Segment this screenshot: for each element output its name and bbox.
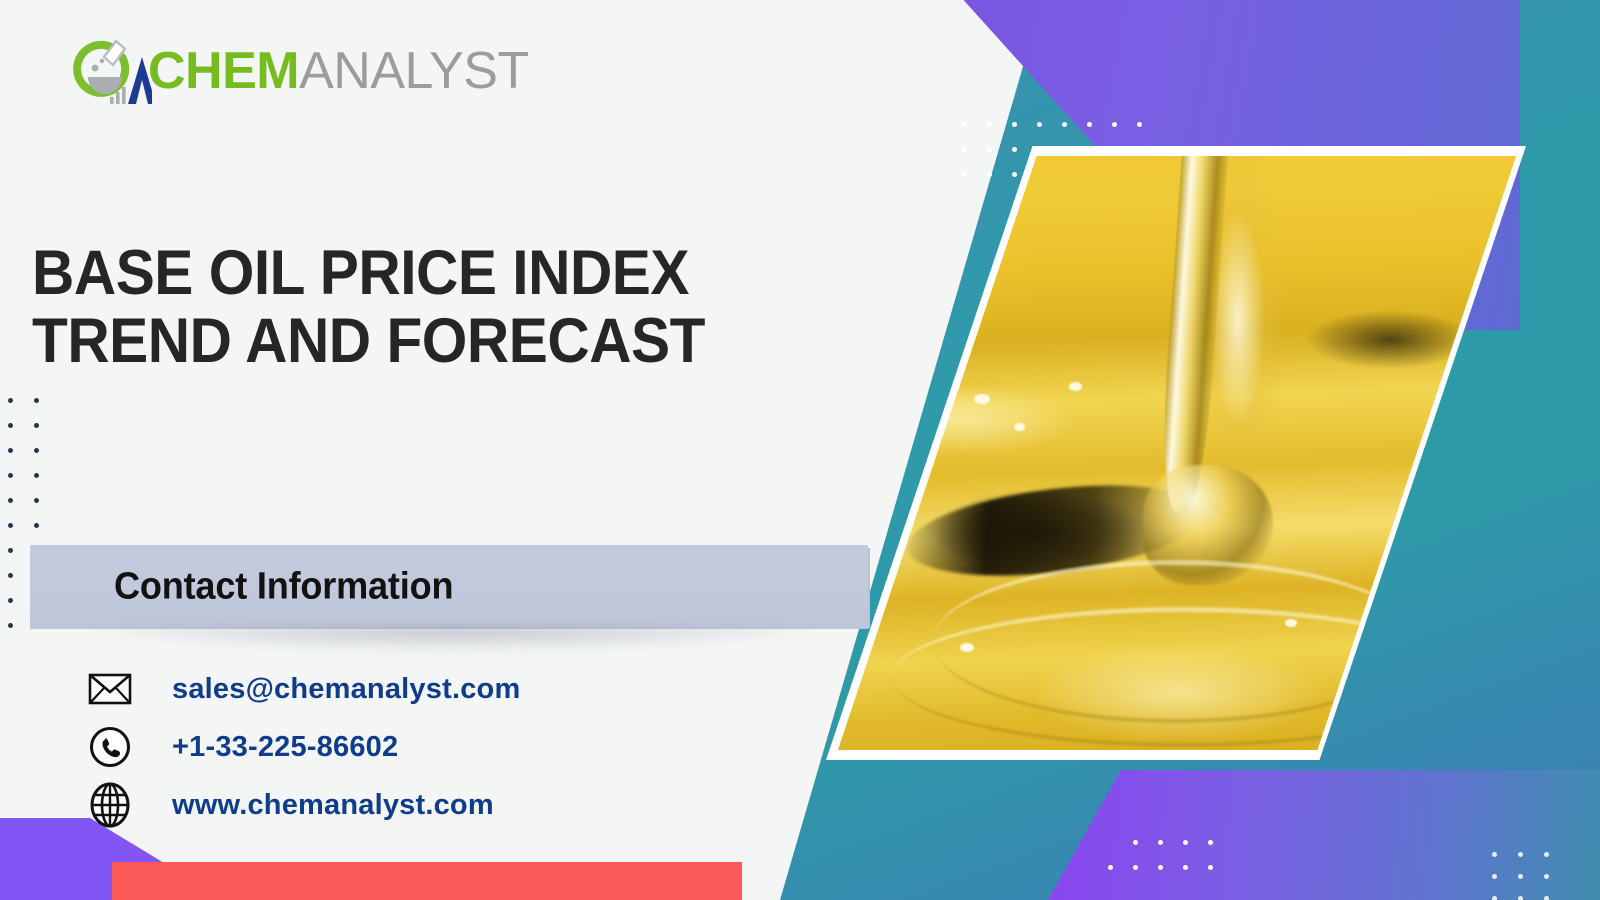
contact-row-phone[interactable]: +1-33-225-86602: [86, 718, 706, 776]
contact-list: sales@chemanalyst.com +1-33-225-86602: [86, 660, 706, 834]
brand-name-analyst: ANALYST: [299, 45, 529, 97]
contact-website-value: www.chemanalyst.com: [172, 789, 494, 822]
brand-wordmark: CHEMANALYST: [148, 45, 529, 97]
contact-email-value: sales@chemanalyst.com: [172, 673, 520, 706]
phone-circle-icon: [86, 723, 134, 771]
photo-highlight: [1069, 382, 1082, 391]
page-title: BASE OIL PRICE INDEX TREND AND FORECAST: [32, 240, 739, 375]
brand-name-chem: CHEM: [148, 45, 299, 97]
background-red-bar: [112, 862, 742, 900]
poster-canvas: CHEMANALYST BASE OIL PRICE INDEX TREND A…: [0, 0, 1600, 900]
envelope-icon: [86, 665, 134, 713]
globe-icon: [86, 781, 134, 829]
page-title-line-1: BASE OIL PRICE INDEX: [32, 240, 739, 307]
contact-row-email[interactable]: sales@chemanalyst.com: [86, 660, 706, 718]
brand-logo[interactable]: CHEMANALYST: [70, 34, 529, 108]
flask-chart-logo-icon: [70, 35, 152, 107]
contact-header-bar-shadow: [85, 627, 820, 653]
contact-phone-value: +1-33-225-86602: [172, 731, 398, 764]
background-purple-wedge-bottom: [1048, 770, 1600, 900]
contact-header-label: Contact Information: [114, 566, 453, 609]
contact-header-bar: Contact Information: [30, 545, 868, 629]
photo-highlight: [974, 394, 990, 404]
page-title-line-2: TREND AND FORECAST: [32, 308, 739, 375]
contact-row-website[interactable]: www.chemanalyst.com: [86, 776, 706, 834]
